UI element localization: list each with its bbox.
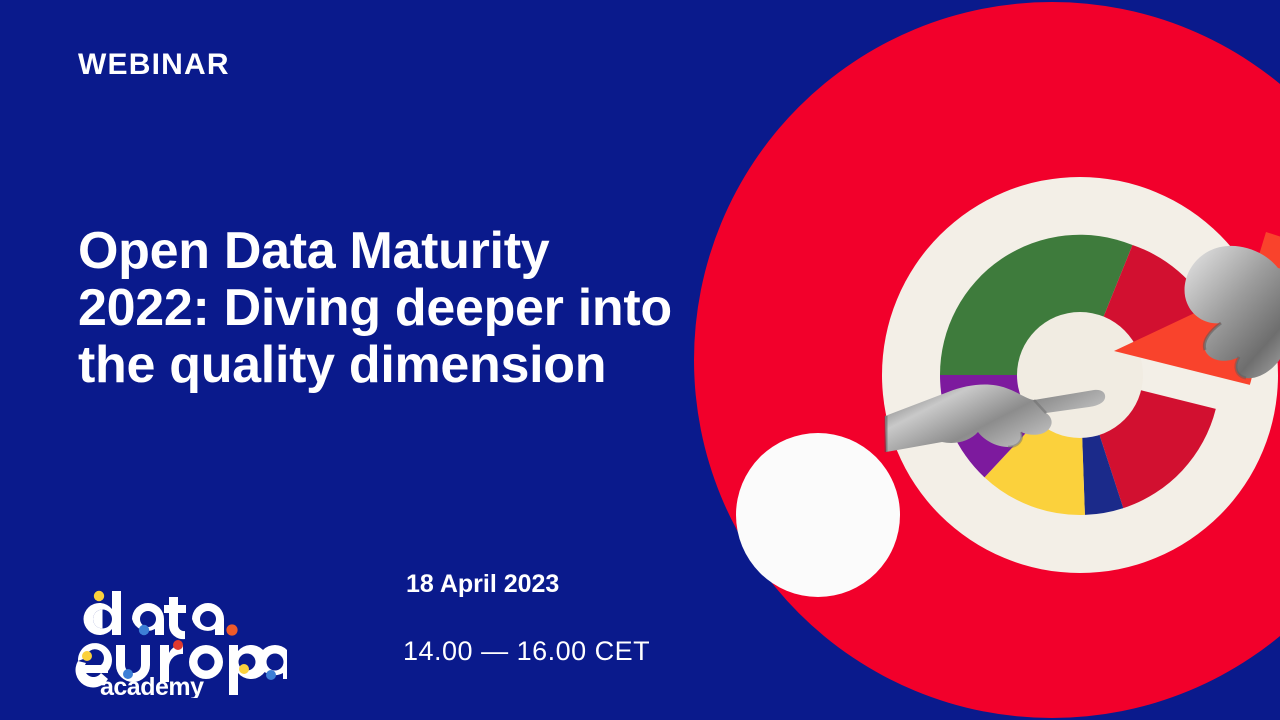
- white-accent-circle: [736, 433, 900, 597]
- logo-dot-orange-1: [226, 624, 237, 635]
- logo-dot-yellow-1: [94, 591, 104, 601]
- event-date: 18 April 2023: [406, 572, 559, 597]
- data-europa-academy-logo-icon: academy: [72, 583, 287, 698]
- eyebrow-label: WEBINAR: [78, 50, 230, 80]
- hero-illustration: [690, 0, 1280, 720]
- brand-logo: academy: [72, 583, 287, 698]
- logo-dot-blue-3: [266, 670, 276, 680]
- page-title: Open Data Maturity 2022: Diving deeper i…: [78, 223, 678, 395]
- logo-dot-blue-1: [139, 625, 149, 635]
- logo-dot-yellow-2: [82, 651, 92, 661]
- logo-dot-yellow-3: [239, 664, 249, 674]
- logo-academy-text: academy: [100, 673, 204, 698]
- event-time: 14.00 — 16.00 CET: [403, 638, 650, 665]
- webinar-banner: WEBINAR Open Data Maturity 2022: Diving …: [0, 0, 1280, 720]
- logo-dot-red-2: [173, 640, 183, 650]
